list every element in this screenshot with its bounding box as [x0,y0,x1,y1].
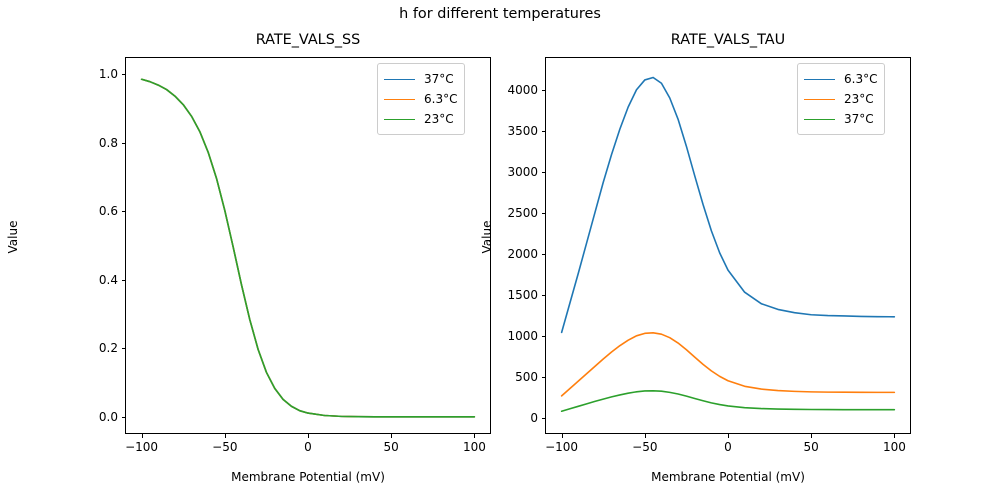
y-tick-mark [542,418,546,419]
x-tick-mark [811,434,812,438]
y-tick-mark [542,295,546,296]
y-tick-mark [542,254,546,255]
legend-color-swatch [804,79,835,80]
ylabel-tau: Value [480,177,494,297]
y-tick-mark [542,131,546,132]
y-tick-label: 2500 [455,206,538,220]
series-line [562,391,895,411]
y-tick-mark [542,377,546,378]
y-tick-mark [542,90,546,91]
y-tick-label: 1000 [455,329,538,343]
y-tick-label: 2000 [455,247,538,261]
legend-color-swatch [804,119,835,120]
x-tick-label: −100 [545,440,578,454]
legend-entry[interactable]: 23°C [804,89,877,109]
y-tick-label: 3000 [455,165,538,179]
legend-label: 23°C [844,92,874,106]
x-tick-label: 100 [883,440,906,454]
x-tick-label: 50 [804,440,819,454]
y-tick-label: 0 [455,411,538,425]
legend-color-swatch [804,99,835,100]
y-tick-mark [542,213,546,214]
xlabel-tau: Membrane Potential (mV) [545,470,911,484]
y-tick-label: 4000 [455,83,538,97]
legend-tau[interactable]: 6.3°C23°C37°C [797,63,885,135]
legend-label: 6.3°C [844,72,877,86]
y-tick-label: 3500 [455,124,538,138]
x-tick-mark [562,434,563,438]
x-tick-mark [728,434,729,438]
y-tick-label: 1500 [455,288,538,302]
x-tick-mark [894,434,895,438]
legend-label: 37°C [844,112,874,126]
x-tick-mark [645,434,646,438]
legend-entry[interactable]: 37°C [804,109,877,129]
y-tick-label: 500 [455,370,538,384]
y-tick-mark [542,172,546,173]
x-tick-label: −50 [632,440,657,454]
y-tick-mark [542,336,546,337]
series-line [562,333,895,396]
legend-entry[interactable]: 6.3°C [804,69,877,89]
x-tick-label: 0 [724,440,732,454]
matplotlib-figure: h for different temperatures RATE_VALS_S… [0,0,1000,500]
